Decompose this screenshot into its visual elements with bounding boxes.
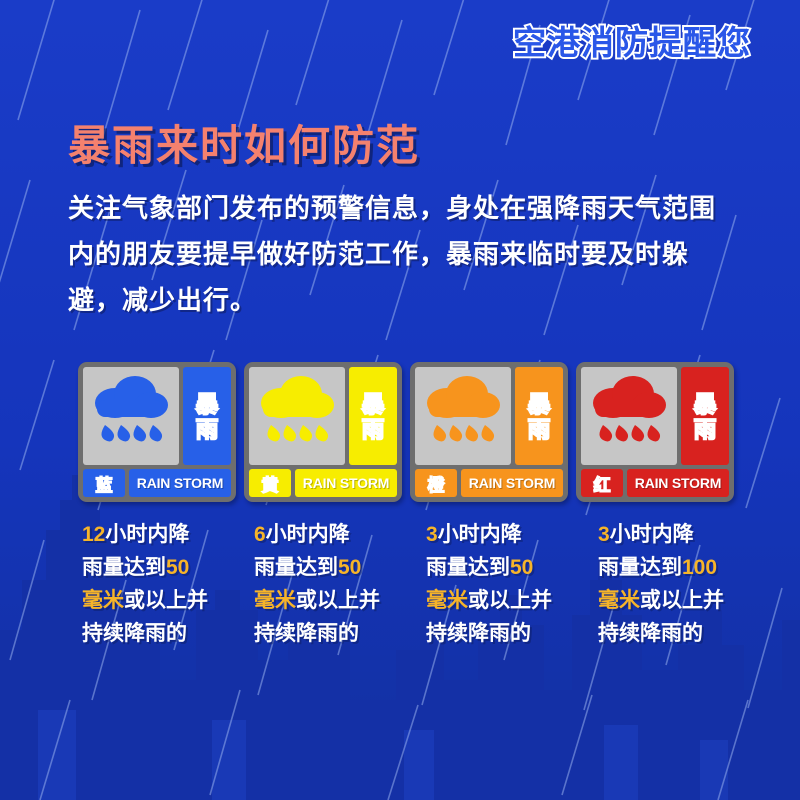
caption-line-3: 毫米或以上并	[426, 584, 598, 617]
sign-bottom-row: 橙 RAIN STORM	[415, 469, 563, 497]
sign-english-label: RAIN STORM	[129, 469, 231, 497]
caption-line-2: 雨量达到50	[254, 551, 426, 584]
caption-hours-suffix: 小时内降	[105, 523, 189, 546]
sign-english-label: RAIN STORM	[461, 469, 563, 497]
rain-cloud-icon	[249, 367, 345, 465]
caption-unit: 毫米	[598, 589, 640, 612]
sign-bottom-row: 蓝 RAIN STORM	[83, 469, 231, 497]
rain-cloud-icon	[83, 367, 179, 465]
caption-line-2: 雨量达到50	[426, 551, 598, 584]
body-paragraph: 关注气象部门发布的预警信息，身处在强降雨天气范围内的朋友要提早做好防范工作，暴雨…	[68, 185, 728, 323]
sign-word-char-1: 暴	[362, 392, 385, 416]
caption-hours-suffix: 小时内降	[438, 523, 522, 546]
caption-unit: 毫米	[426, 589, 468, 612]
sign-color-char: 橙	[415, 469, 457, 497]
caption-unit: 毫米	[254, 589, 296, 612]
warning-sign-row: 暴 雨 蓝 RAIN STORM	[78, 362, 758, 502]
caption-line-4: 持续降雨的	[426, 617, 598, 650]
caption-amount-prefix: 雨量达到	[254, 556, 338, 579]
caption-hours: 3	[598, 523, 610, 546]
caption-unit-suffix: 或以上并	[640, 589, 724, 612]
caption-hours: 3	[426, 523, 438, 546]
caption-amount-prefix: 雨量达到	[82, 556, 166, 579]
sign-word-char-2: 雨	[694, 417, 717, 441]
sign-english-label: RAIN STORM	[627, 469, 729, 497]
poster-canvas: 空港消防提醒您 空港消防提醒您 暴雨来时如何防范 关注气象部门发布的预警信息，身…	[0, 0, 800, 800]
sign-bottom-row: 黄 RAIN STORM	[249, 469, 397, 497]
caption-line-1: 3小时内降	[598, 518, 770, 551]
caption-line-1: 12小时内降	[82, 518, 254, 551]
caption-hours: 12	[82, 523, 105, 546]
caption-line-4: 持续降雨的	[254, 617, 426, 650]
sign-word-char-1: 暴	[528, 392, 551, 416]
caption-line-3: 毫米或以上并	[82, 584, 254, 617]
page-title: 暴雨来时如何防范	[68, 112, 420, 173]
caption-unit-suffix: 或以上并	[124, 589, 208, 612]
caption-amount: 50	[338, 556, 361, 579]
caption-hours: 6	[254, 523, 266, 546]
caption-unit-suffix: 或以上并	[296, 589, 380, 612]
caption-hours-suffix: 小时内降	[266, 523, 350, 546]
caption-line-1: 6小时内降	[254, 518, 426, 551]
caption-amount: 50	[166, 556, 189, 579]
caption-amount-prefix: 雨量达到	[598, 556, 682, 579]
caption-blue: 12小时内降 雨量达到50 毫米或以上并 持续降雨的	[82, 518, 254, 650]
sign-color-char: 黄	[249, 469, 291, 497]
caption-amount-prefix: 雨量达到	[426, 556, 510, 579]
caption-line-3: 毫米或以上并	[598, 584, 770, 617]
caption-line-1: 3小时内降	[426, 518, 598, 551]
caption-amount: 100	[682, 556, 717, 579]
warning-sign-orange[interactable]: 暴 雨 橙 RAIN STORM	[410, 362, 568, 502]
sign-top-row: 暴 雨	[415, 367, 563, 465]
caption-yellow: 6小时内降 雨量达到50 毫米或以上并 持续降雨的	[254, 518, 426, 650]
sign-word-panel: 暴 雨	[349, 367, 397, 465]
sign-color-char: 红	[581, 469, 623, 497]
warning-sign-yellow[interactable]: 暴 雨 黄 RAIN STORM	[244, 362, 402, 502]
sign-word-char-2: 雨	[528, 417, 551, 441]
caption-line-2: 雨量达到50	[82, 551, 254, 584]
sign-color-char: 蓝	[83, 469, 125, 497]
caption-hours-suffix: 小时内降	[610, 523, 694, 546]
rain-cloud-icon	[581, 367, 677, 465]
rain-cloud-icon	[415, 367, 511, 465]
sign-top-row: 暴 雨	[581, 367, 729, 465]
caption-unit: 毫米	[82, 589, 124, 612]
warning-sign-blue[interactable]: 暴 雨 蓝 RAIN STORM	[78, 362, 236, 502]
warning-sign-red[interactable]: 暴 雨 红 RAIN STORM	[576, 362, 734, 502]
header-badge-label: 空港消防提醒您	[513, 16, 751, 64]
sign-top-row: 暴 雨	[83, 367, 231, 465]
caption-line-4: 持续降雨的	[82, 617, 254, 650]
caption-orange: 3小时内降 雨量达到50 毫米或以上并 持续降雨的	[426, 518, 598, 650]
sign-word-char-1: 暴	[196, 392, 219, 416]
caption-line-2: 雨量达到100	[598, 551, 770, 584]
caption-red: 3小时内降 雨量达到100 毫米或以上并 持续降雨的	[598, 518, 770, 650]
sign-bottom-row: 红 RAIN STORM	[581, 469, 729, 497]
caption-unit-suffix: 或以上并	[468, 589, 552, 612]
caption-amount: 50	[510, 556, 533, 579]
caption-row: 12小时内降 雨量达到50 毫米或以上并 持续降雨的 6小时内降 雨量达到50 …	[82, 518, 782, 650]
sign-word-panel: 暴 雨	[183, 367, 231, 465]
sign-word-char-2: 雨	[362, 417, 385, 441]
caption-line-3: 毫米或以上并	[254, 584, 426, 617]
sign-top-row: 暴 雨	[249, 367, 397, 465]
sign-english-label: RAIN STORM	[295, 469, 397, 497]
sign-word-panel: 暴 雨	[681, 367, 729, 465]
header-badge: 空港消防提醒您	[472, 14, 792, 66]
caption-line-4: 持续降雨的	[598, 617, 770, 650]
sign-word-char-2: 雨	[196, 417, 219, 441]
sign-word-panel: 暴 雨	[515, 367, 563, 465]
sign-word-char-1: 暴	[694, 392, 717, 416]
